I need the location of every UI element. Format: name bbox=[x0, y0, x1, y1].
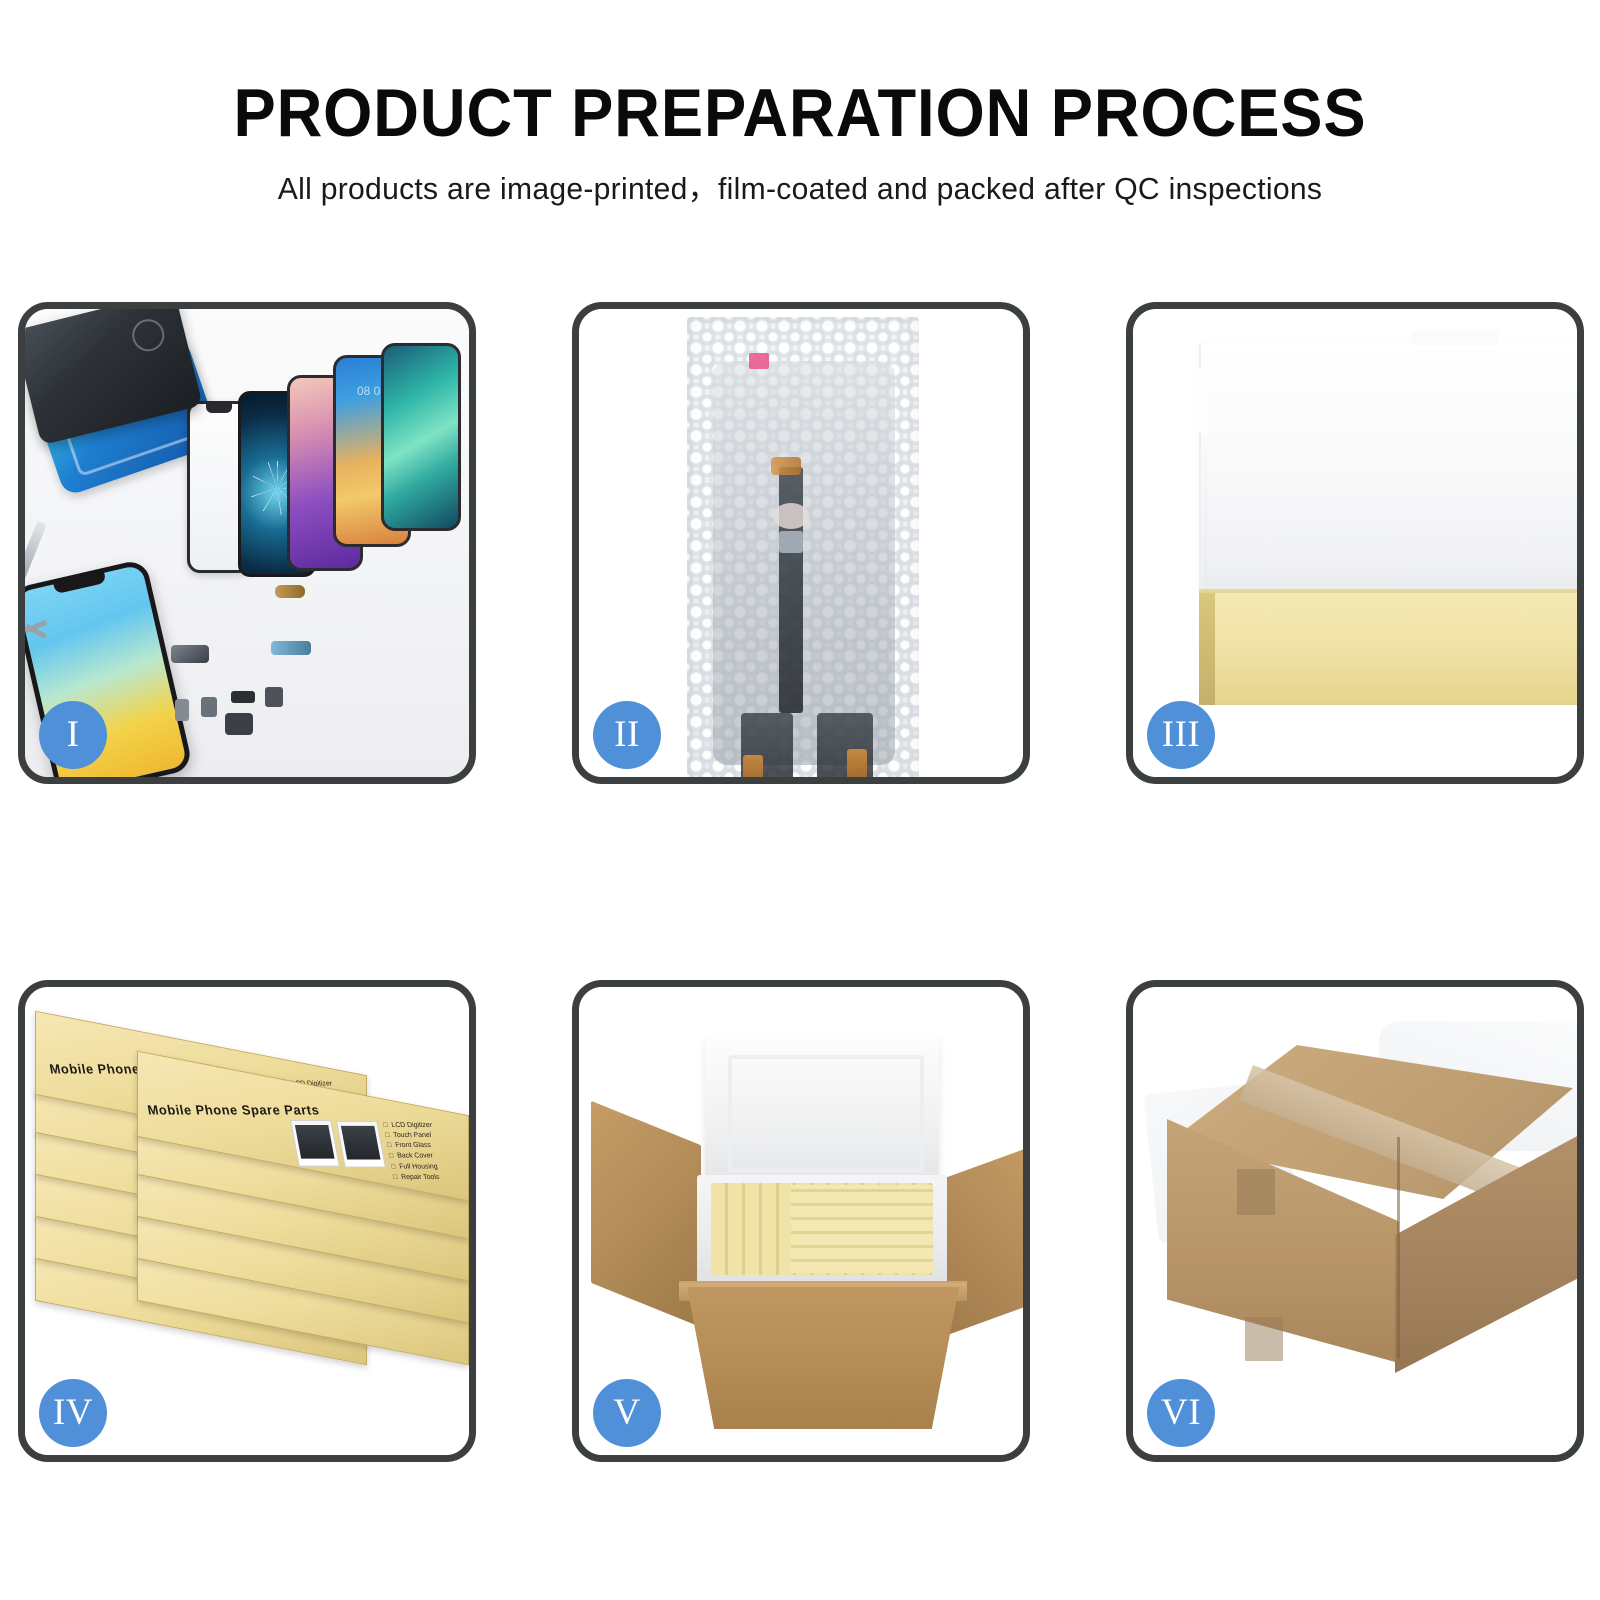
process-step-panel-2[interactable]: II bbox=[572, 302, 1030, 784]
carton-vertical-seam bbox=[1397, 1137, 1400, 1359]
checklist-item-front-glass: Front Glass bbox=[387, 1141, 437, 1151]
flex-cable-part-2 bbox=[271, 641, 311, 655]
wrapped-screen-graphic bbox=[713, 361, 895, 765]
eps-foam-lid bbox=[705, 1035, 939, 1187]
pink-tape-marker bbox=[749, 353, 769, 369]
checklist-item-full-housing: Full Housing bbox=[390, 1162, 440, 1172]
inner-box-front-wall bbox=[1199, 593, 1577, 705]
step-badge-5: V bbox=[593, 1379, 661, 1447]
foam-sheet-graphic bbox=[1207, 445, 1577, 603]
orange-flex-right bbox=[847, 749, 867, 777]
process-step-panel-3[interactable]: III bbox=[1126, 302, 1584, 784]
checklist-item-back-cover: Back Cover bbox=[388, 1152, 438, 1162]
page-header: PRODUCT PREPARATION PROCESS All products… bbox=[0, 0, 1600, 208]
carton-notch-top bbox=[1237, 1169, 1275, 1215]
step-badge-6: VI bbox=[1147, 1379, 1215, 1447]
checklist-item-touch-panel: Touch Panel bbox=[385, 1131, 435, 1141]
flex-cable-part-3 bbox=[171, 645, 209, 663]
gold-boxes-row-2 bbox=[791, 1185, 933, 1273]
step-badge-2: II bbox=[593, 701, 661, 769]
process-step-grid: I II bbox=[18, 302, 1584, 1462]
process-step-panel-1[interactable]: I bbox=[18, 302, 476, 784]
carton-notch-bottom bbox=[1245, 1317, 1283, 1361]
retail-box-photo-front-2 bbox=[336, 1121, 386, 1168]
process-step-panel-6[interactable]: VI bbox=[1126, 980, 1584, 1462]
orange-flex-left bbox=[743, 755, 763, 777]
wrapped-connector bbox=[773, 503, 809, 529]
small-component-1 bbox=[231, 691, 255, 703]
carton-front-wall bbox=[687, 1287, 959, 1429]
small-component-2 bbox=[201, 697, 217, 717]
page-subtitle: All products are image-printed，film-coat… bbox=[24, 149, 1576, 208]
step-badge-3: III bbox=[1147, 701, 1215, 769]
process-step-panel-4[interactable]: Mobile Phone Spare Parts LCD Digitizer T… bbox=[18, 980, 476, 1462]
process-step-panel-5[interactable]: V bbox=[572, 980, 1030, 1462]
wrapped-ic-chip bbox=[779, 531, 803, 553]
retail-box-photo-front-1 bbox=[290, 1120, 340, 1167]
retail-box-brand-label-front: Mobile Phone Spare Parts bbox=[146, 1102, 320, 1117]
flex-cable-part-1 bbox=[275, 585, 305, 598]
page-title: PRODUCT PREPARATION PROCESS bbox=[56, 0, 1544, 149]
camera-module-part bbox=[225, 713, 253, 735]
orange-flex-tab bbox=[771, 457, 801, 475]
step-badge-4: IV bbox=[39, 1379, 107, 1447]
checklist-item-repair-tools: Repair Tools bbox=[392, 1172, 442, 1182]
teal-phone-graphic bbox=[381, 343, 461, 531]
bubble-wrap-graphic bbox=[687, 317, 919, 777]
small-component-3 bbox=[265, 687, 283, 707]
step-badge-1: I bbox=[39, 701, 107, 769]
sim-tray-part bbox=[175, 699, 189, 721]
checklist-item-lcd-digitizer: LCD Digitizer bbox=[383, 1121, 433, 1131]
